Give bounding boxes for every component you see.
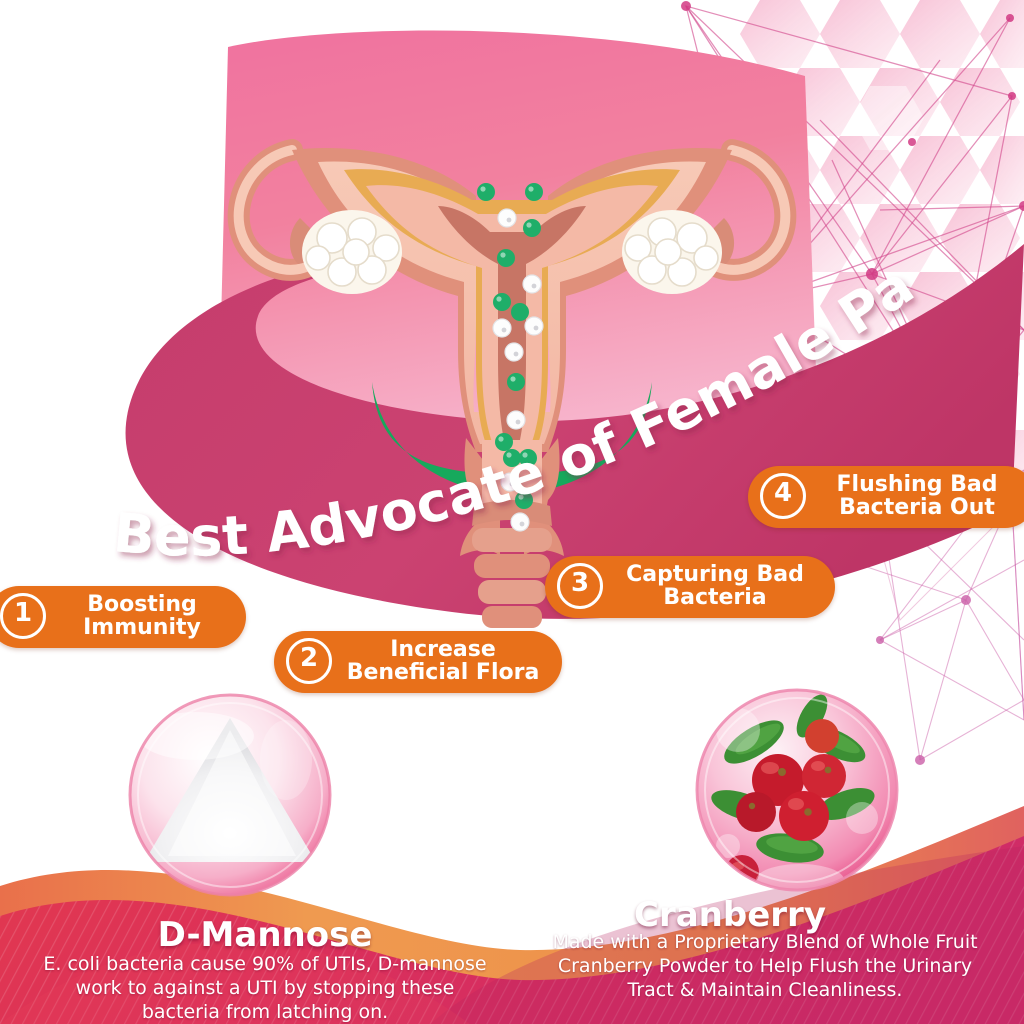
benefit-badge-3-label: Capturing Bad Bacteria: [613, 563, 817, 609]
benefit-badge-4-label: Flushing Bad Bacteria Out: [816, 473, 1018, 519]
benefit-badge-1-label: Boosting Immunity: [56, 593, 228, 639]
benefit-badge-1-number: 1: [0, 593, 46, 639]
ingredient-description-cranberry: Made with a Proprietary Blend of Whole F…: [520, 930, 1010, 1002]
ingredient-title-d-mannose: D-Mannose: [80, 915, 450, 955]
benefit-badge-1[interactable]: 1 Boosting Immunity: [0, 586, 246, 648]
benefit-badge-2-number: 2: [286, 638, 332, 684]
benefit-badge-4[interactable]: 4 Flushing Bad Bacteria Out: [748, 466, 1024, 528]
benefit-badge-3[interactable]: 3 Capturing Bad Bacteria: [545, 556, 835, 618]
benefit-badge-2-label: Increase Beneficial Flora: [342, 638, 544, 684]
ingredient-description-d-mannose: E. coli bacteria cause 90% of UTIs, D-ma…: [20, 952, 510, 1024]
benefit-badge-3-number: 3: [557, 563, 603, 609]
infographic-canvas: Best Advocate of Female Parts ! 1 Boosti…: [0, 0, 1024, 1024]
benefit-badge-4-number: 4: [760, 473, 806, 519]
ingredient-image-d-mannose: [130, 695, 330, 895]
ingredient-title-cranberry: Cranberry: [545, 895, 915, 935]
benefit-badge-2[interactable]: 2 Increase Beneficial Flora: [274, 631, 562, 693]
